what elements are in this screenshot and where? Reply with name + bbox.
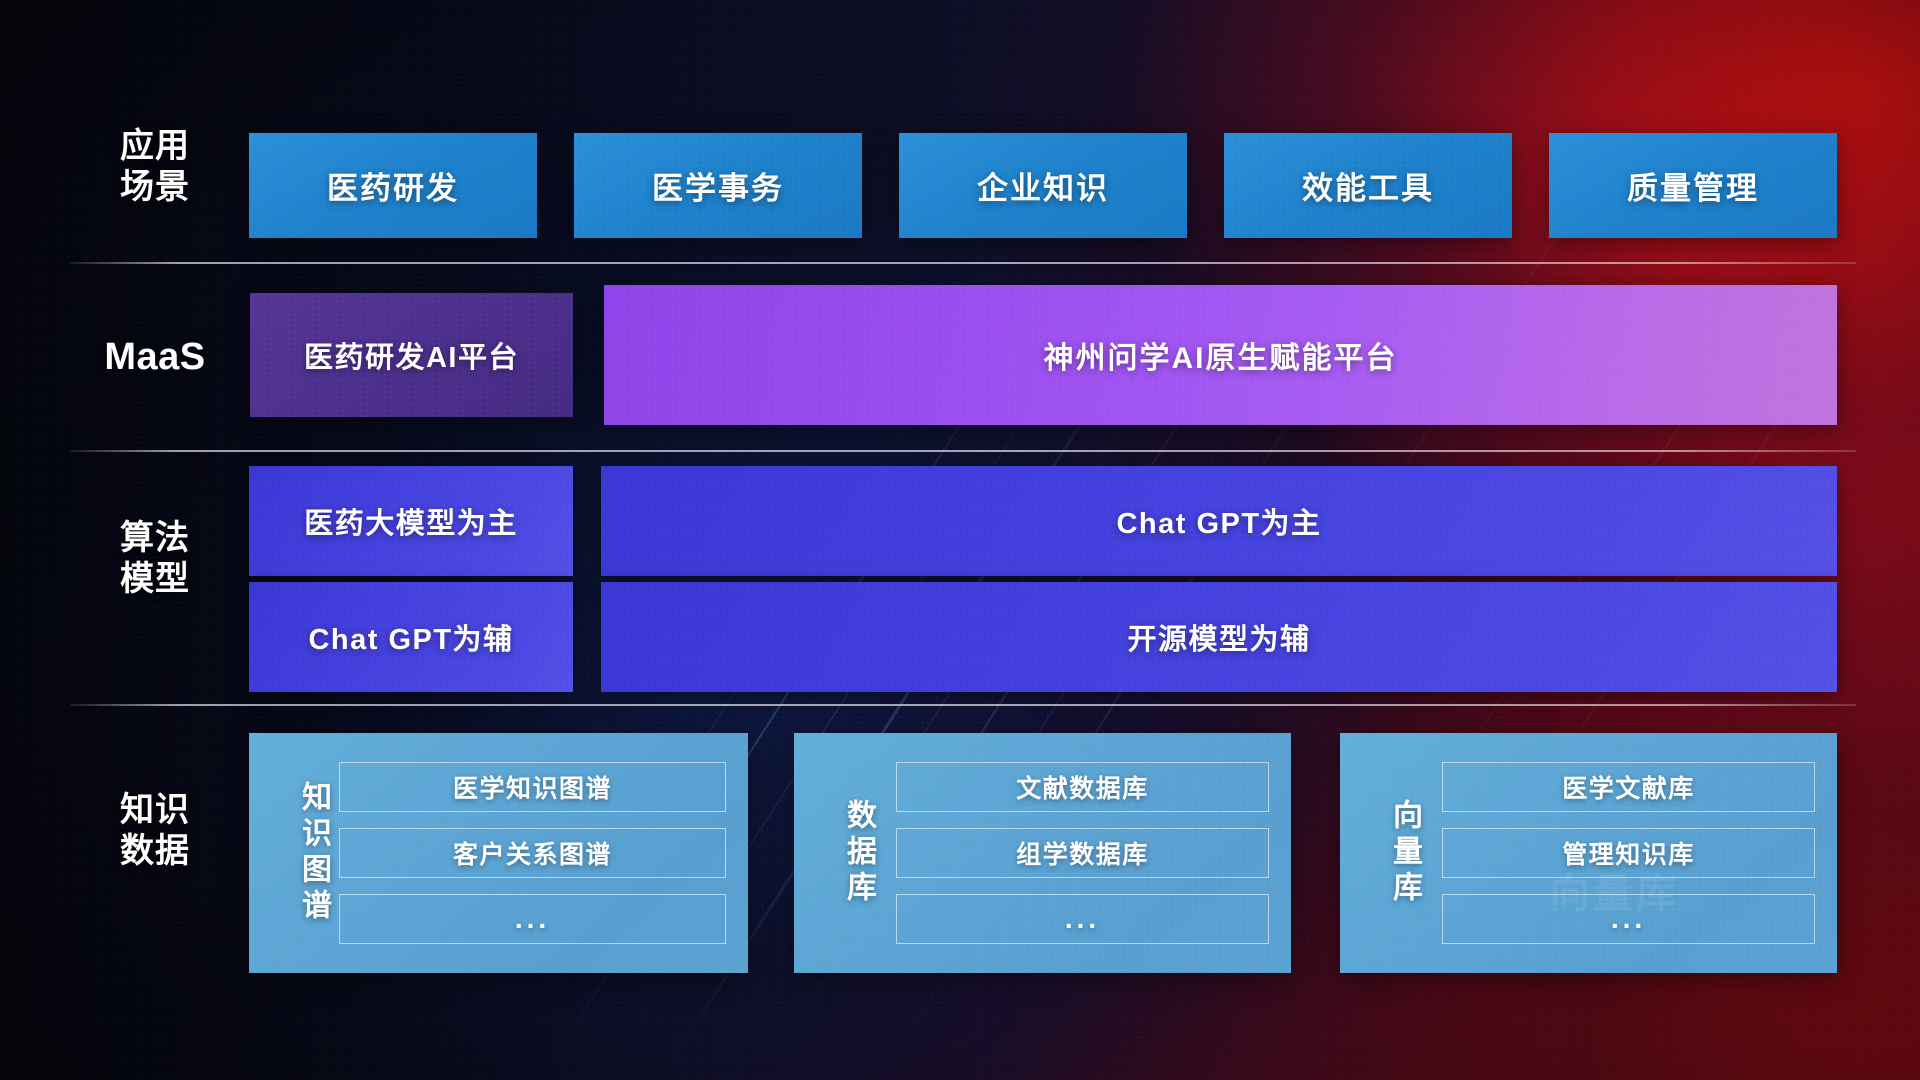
knowledge-item[interactable]: 文献数据库 bbox=[896, 762, 1269, 812]
app-scenario-box-5[interactable]: 质量管理 bbox=[1549, 133, 1837, 238]
maas-box-shenzhou-platform[interactable]: 神州问学AI原生赋能平台 bbox=[604, 285, 1837, 425]
knowledge-group-title-database: 数据库 bbox=[820, 783, 874, 923]
algo-label-chatgpt-secondary: Chat GPT为辅 bbox=[308, 616, 513, 658]
knowledge-items-database: 文献数据库 组学数据库 ... bbox=[874, 762, 1269, 944]
algo-box-chatgpt-secondary[interactable]: Chat GPT为辅 bbox=[249, 582, 573, 692]
knowledge-item[interactable]: ... bbox=[896, 894, 1269, 944]
knowledge-item[interactable]: 组学数据库 bbox=[896, 828, 1269, 878]
algo-box-pharma-llm-primary[interactable]: 医药大模型为主 bbox=[249, 466, 573, 576]
algo-box-chatgpt-primary[interactable]: Chat GPT为主 bbox=[601, 466, 1837, 576]
app-scenario-box-2[interactable]: 医学事务 bbox=[574, 133, 862, 238]
knowledge-item[interactable]: 医学文献库 bbox=[1442, 762, 1815, 812]
algo-label-pharma-llm-primary: 医药大模型为主 bbox=[304, 500, 518, 542]
maas-label-pharma-ai-platform: 医药研发AI平台 bbox=[304, 334, 519, 376]
app-scenario-label-3: 企业知识 bbox=[977, 163, 1109, 208]
app-scenario-label-4: 效能工具 bbox=[1302, 163, 1434, 208]
knowledge-group-knowledge-graph[interactable]: 知识图谱 医学知识图谱 客户关系图谱 ... bbox=[249, 733, 748, 973]
knowledge-item[interactable]: ... bbox=[339, 894, 726, 944]
knowledge-group-database[interactable]: 数据库 文献数据库 组学数据库 ... bbox=[794, 733, 1291, 973]
app-scenario-box-3[interactable]: 企业知识 bbox=[899, 133, 1187, 238]
knowledge-items-vector-database: 医学文献库 管理知识库 ... bbox=[1420, 762, 1815, 944]
algo-label-chatgpt-primary: Chat GPT为主 bbox=[1116, 500, 1321, 542]
maas-box-pharma-ai-platform[interactable]: 医药研发AI平台 bbox=[250, 293, 573, 417]
knowledge-item[interactable]: 客户关系图谱 bbox=[339, 828, 726, 878]
app-scenario-box-4[interactable]: 效能工具 bbox=[1224, 133, 1512, 238]
knowledge-group-vector-database[interactable]: 向量库 向量库 医学文献库 管理知识库 ... bbox=[1340, 733, 1837, 973]
app-scenario-box-1[interactable]: 医药研发 bbox=[249, 133, 537, 238]
row-label-knowledge-data: 知识 数据 bbox=[80, 790, 230, 873]
algo-label-opensource-secondary: 开源模型为辅 bbox=[1127, 616, 1310, 658]
app-scenario-label-5: 质量管理 bbox=[1627, 163, 1759, 208]
architecture-diagram-canvas: 应用 场景 医药研发 医学事务 企业知识 效能工具 质量管理 MaaS 医药研发… bbox=[0, 0, 1920, 1080]
knowledge-item[interactable]: 医学知识图谱 bbox=[339, 762, 726, 812]
maas-label-shenzhou-platform: 神州问学AI原生赋能平台 bbox=[1044, 333, 1398, 377]
row-label-maas: MaaS bbox=[70, 334, 240, 380]
knowledge-items-knowledge-graph: 医学知识图谱 客户关系图谱 ... bbox=[329, 762, 726, 944]
row-label-application-scenarios: 应用 场景 bbox=[80, 126, 230, 209]
knowledge-item[interactable]: ... bbox=[1442, 894, 1815, 944]
divider-after-application-scenarios bbox=[70, 262, 1856, 264]
algo-box-opensource-secondary[interactable]: 开源模型为辅 bbox=[601, 582, 1837, 692]
app-scenario-label-2: 医学事务 bbox=[652, 163, 784, 208]
app-scenario-label-1: 医药研发 bbox=[327, 163, 459, 208]
knowledge-item[interactable]: 管理知识库 bbox=[1442, 828, 1815, 878]
knowledge-group-title-knowledge-graph: 知识图谱 bbox=[275, 768, 329, 938]
knowledge-group-title-vector-database: 向量库 bbox=[1366, 783, 1420, 923]
row-label-algorithm-model: 算法 模型 bbox=[80, 518, 230, 601]
divider-after-algorithm-model bbox=[70, 704, 1856, 706]
divider-after-maas bbox=[70, 450, 1856, 452]
